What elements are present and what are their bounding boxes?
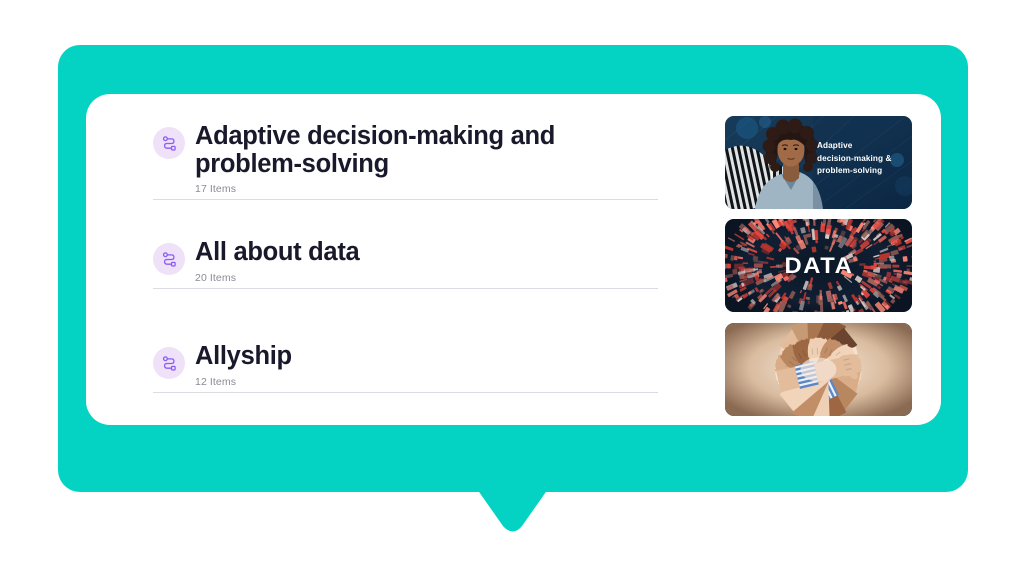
all-about-data-thumbnail[interactable]: DATA [725,219,912,312]
thumbnail-wordmark: DATA [725,253,912,279]
list-item-divider [153,288,658,289]
list-item-title: Adaptive decision-making and problem-sol… [195,123,661,178]
route-path-icon [153,347,185,379]
thumbnail-overlay-line-1: Adaptive [817,140,909,153]
list-item-count: 12 Items [195,376,661,388]
list-item-count: 17 Items [195,183,661,195]
list-item-divider [153,392,658,393]
collection-thumbnails: Adaptive decision-making & problem-solvi… [723,94,941,425]
list-item[interactable]: Allyship 12 Items [153,343,661,393]
list-item-title: All about data [195,239,661,267]
route-path-icon [153,127,185,159]
thumbnail-overlay-text: Adaptive decision-making & problem-solvi… [817,140,909,178]
thumbnail-wordmark-text: DATA [784,253,853,279]
list-item-divider [153,199,658,200]
list-item-title: Allyship [195,343,661,371]
list-item[interactable]: All about data 20 Items [153,239,661,289]
screenshot-stage: Adaptive decision-making and problem-sol… [0,0,1024,576]
thumbnail-overlay-line-2: decision-making & [817,153,909,166]
thumbnail-overlay-line-3: problem-solving [817,165,909,178]
collections-list: Adaptive decision-making and problem-sol… [86,94,723,425]
allyship-thumbnail[interactable] [725,323,912,416]
list-item[interactable]: Adaptive decision-making and problem-sol… [153,123,661,200]
collections-card: Adaptive decision-making and problem-sol… [86,94,941,425]
list-item-count: 20 Items [195,272,661,284]
adaptive-decision-making-thumbnail[interactable]: Adaptive decision-making & problem-solvi… [725,116,912,209]
route-path-icon [153,243,185,275]
speech-bubble-tail [462,470,562,538]
